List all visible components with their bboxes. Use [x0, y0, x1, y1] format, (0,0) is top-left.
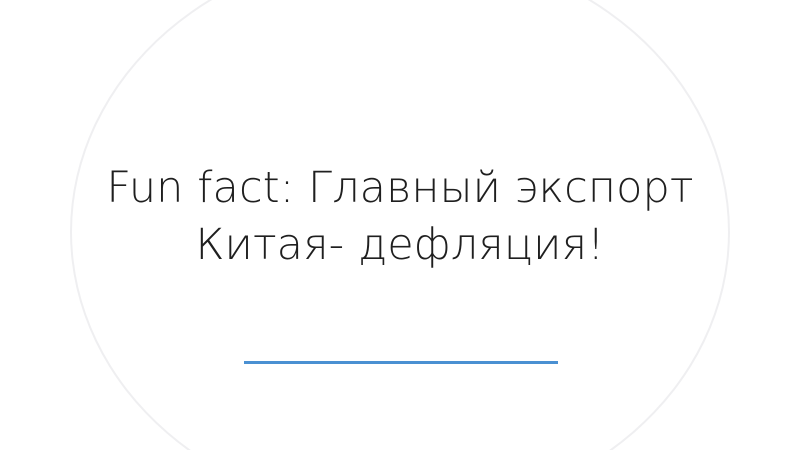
slide-content: Fun fact: Главный экспорт Китая- дефляци… [0, 0, 800, 450]
slide-canvas: Fun fact: Главный экспорт Китая- дефляци… [0, 0, 800, 450]
slide-title: Fun fact: Главный экспорт Китая- дефляци… [70, 160, 730, 274]
accent-underline-rule [244, 361, 558, 364]
